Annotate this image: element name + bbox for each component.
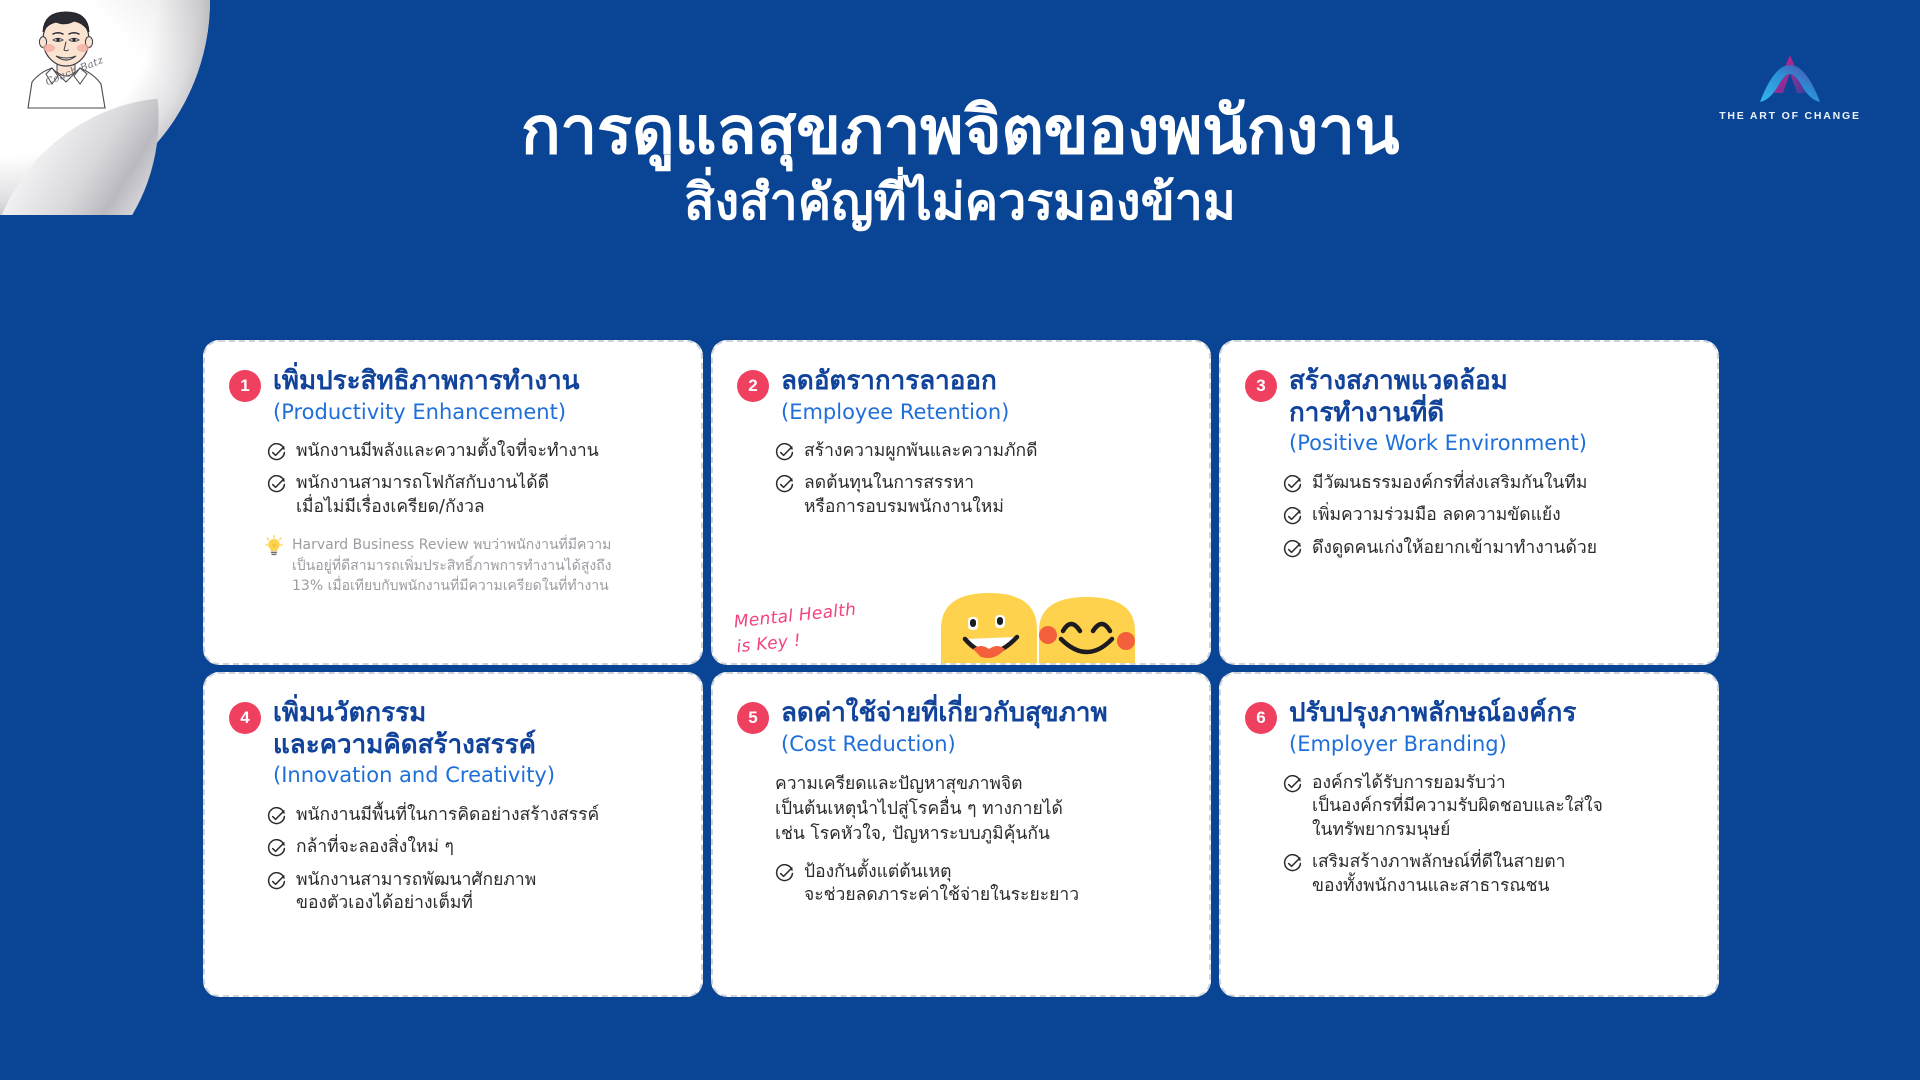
benefit-card-6: 6ปรับปรุงภาพลักษณ์องค์กร(Employer Brandi…: [1219, 672, 1719, 997]
card-title-english: (Employer Branding): [1289, 731, 1691, 758]
card-heading-group: เพิ่มนวัตกรรม และความคิดสร้างสรรค์(Innov…: [273, 698, 675, 790]
bullet-text: ลดต้นทุนในการสรรหา หรือการอบรมพนักงานใหม…: [804, 472, 1004, 519]
bullet-text: กล้าที่จะลองสิ่งใหม่ ๆ: [296, 836, 454, 859]
card-title-thai: เพิ่มนวัตกรรม และความคิดสร้างสรรค์: [273, 698, 675, 761]
benefit-card-2: 2ลดอัตราการลาออก(Employee Retention)สร้า…: [711, 340, 1211, 665]
list-item: เสริมสร้างภาพลักษณ์ที่ดีในสายตา ของทั้งพ…: [1283, 851, 1691, 898]
card-bullet-list: องค์กรได้รับการยอมรับว่า เป็นองค์กรที่มี…: [1283, 772, 1691, 898]
bullet-text: พนักงานมีพื้นที่ในการคิดอย่างสร้างสรรค์: [296, 804, 599, 827]
list-item: พนักงานสามารถโฟกัสกับงานได้ดี เมื่อไม่มี…: [267, 472, 675, 519]
smiley-faces-illustration: [935, 585, 1157, 663]
bullet-text: พนักงานสามารถพัฒนาศักยภาพ ของตัวเองได้อย…: [296, 869, 536, 916]
card-title-english: (Employee Retention): [781, 399, 1183, 426]
list-item: กล้าที่จะลองสิ่งใหม่ ๆ: [267, 836, 675, 859]
check-circle-icon: [267, 839, 286, 858]
bullet-text: มีวัฒนธรรมองค์กรที่ส่งเสริมกันในทีม: [1312, 472, 1587, 495]
card-footnote: Harvard Business Review พบว่าพนักงานที่ม…: [265, 535, 675, 596]
card-bullet-list: พนักงานมีพลังและความตั้งใจที่จะทำงานพนัก…: [267, 440, 675, 519]
card-number-badge: 5: [737, 702, 769, 734]
card-title-thai: เพิ่มประสิทธิภาพการทำงาน: [273, 366, 675, 398]
card-title-english: (Cost Reduction): [781, 731, 1183, 758]
card-number-badge: 6: [1245, 702, 1277, 734]
list-item: ป้องกันตั้งแต่ต้นเหตุ จะช่วยลดภาระค่าใช้…: [775, 861, 1183, 908]
logo-wordmark: THE ART OF CHANGE: [1715, 110, 1865, 122]
brand-logo: THE ART OF CHANGE: [1715, 52, 1865, 122]
bullet-text: เพิ่มความร่วมมือ ลดความขัดแย้ง: [1312, 504, 1561, 527]
check-circle-icon: [775, 443, 794, 462]
card-title-thai: สร้างสภาพแวดล้อม การทำงานที่ดี: [1289, 366, 1691, 429]
check-circle-icon: [1283, 507, 1302, 526]
check-circle-icon: [1283, 475, 1302, 494]
benefit-card-3: 3สร้างสภาพแวดล้อม การทำงานที่ดี(Positive…: [1219, 340, 1719, 665]
card-paragraph: ความเครียดและปัญหาสุขภาพจิต เป็นต้นเหตุน…: [775, 772, 1183, 847]
card-title-english: (Innovation and Creativity): [273, 762, 675, 789]
list-item: ดึงดูดคนเก่งให้อยากเข้ามาทำงานด้วย: [1283, 537, 1691, 560]
card-bullet-list: มีวัฒนธรรมองค์กรที่ส่งเสริมกันในทีมเพิ่ม…: [1283, 472, 1691, 560]
bullet-text: ป้องกันตั้งแต่ต้นเหตุ จะช่วยลดภาระค่าใช้…: [804, 861, 1079, 908]
bullet-text: เสริมสร้างภาพลักษณ์ที่ดีในสายตา ของทั้งพ…: [1312, 851, 1565, 898]
benefit-card-1: 1เพิ่มประสิทธิภาพการทำงาน(Productivity E…: [203, 340, 703, 665]
card-title-thai: ลดอัตราการลาออก: [781, 366, 1183, 398]
list-item: พนักงานมีพื้นที่ในการคิดอย่างสร้างสรรค์: [267, 804, 675, 827]
benefit-cards-grid: 1เพิ่มประสิทธิภาพการทำงาน(Productivity E…: [203, 340, 1719, 997]
card-number-badge: 1: [229, 370, 261, 402]
card-header: 5ลดค่าใช้จ่ายที่เกี่ยวกับสุขภาพ(Cost Red…: [737, 698, 1183, 758]
card-header: 4เพิ่มนวัตกรรม และความคิดสร้างสรรค์(Inno…: [229, 698, 675, 790]
list-item: ลดต้นทุนในการสรรหา หรือการอบรมพนักงานใหม…: [775, 472, 1183, 519]
check-circle-icon: [775, 864, 794, 883]
card-number-badge: 4: [229, 702, 261, 734]
bullet-text: ดึงดูดคนเก่งให้อยากเข้ามาทำงานด้วย: [1312, 537, 1597, 560]
bullet-text: สร้างความผูกพันและความภักดี: [804, 440, 1038, 463]
bullet-text: พนักงานมีพลังและความตั้งใจที่จะทำงาน: [296, 440, 599, 463]
card-title-english: (Productivity Enhancement): [273, 399, 675, 426]
coach-portrait-illustration: [8, 4, 124, 112]
bullet-text: องค์กรได้รับการยอมรับว่า เป็นองค์กรที่มี…: [1312, 772, 1603, 842]
card-heading-group: ปรับปรุงภาพลักษณ์องค์กร(Employer Brandin…: [1289, 698, 1691, 758]
check-circle-icon: [1283, 854, 1302, 873]
bullet-text: พนักงานสามารถโฟกัสกับงานได้ดี เมื่อไม่มี…: [296, 472, 549, 519]
card-heading-group: ลดอัตราการลาออก(Employee Retention): [781, 366, 1183, 426]
card-header: 2ลดอัตราการลาออก(Employee Retention): [737, 366, 1183, 426]
check-circle-icon: [267, 807, 286, 826]
card-header: 6ปรับปรุงภาพลักษณ์องค์กร(Employer Brandi…: [1245, 698, 1691, 758]
art-of-change-mark-icon: [1754, 52, 1826, 106]
list-item: เพิ่มความร่วมมือ ลดความขัดแย้ง: [1283, 504, 1691, 527]
card-title-english: (Positive Work Environment): [1289, 430, 1691, 457]
footnote-text: Harvard Business Review พบว่าพนักงานที่ม…: [292, 535, 612, 596]
list-item: มีวัฒนธรรมองค์กรที่ส่งเสริมกันในทีม: [1283, 472, 1691, 495]
card-bullet-list: สร้างความผูกพันและความภักดีลดต้นทุนในการ…: [775, 440, 1183, 519]
card-heading-group: เพิ่มประสิทธิภาพการทำงาน(Productivity En…: [273, 366, 675, 426]
check-circle-icon: [267, 475, 286, 494]
card-heading-group: สร้างสภาพแวดล้อม การทำงานที่ดี(Positive …: [1289, 366, 1691, 458]
check-circle-icon: [267, 872, 286, 891]
card-bullet-list: ป้องกันตั้งแต่ต้นเหตุ จะช่วยลดภาระค่าใช้…: [775, 861, 1183, 908]
check-circle-icon: [267, 443, 286, 462]
list-item: องค์กรได้รับการยอมรับว่า เป็นองค์กรที่มี…: [1283, 772, 1691, 842]
page-subtitle: สิ่งสำคัญที่ไม่ควรมองข้าม: [0, 175, 1920, 230]
check-circle-icon: [1283, 775, 1302, 794]
card-number-badge: 3: [1245, 370, 1277, 402]
header: การดูแลสุขภาพจิตของพนักงาน สิ่งสำคัญที่ไ…: [0, 96, 1920, 230]
handwritten-note: Mental Health is Key !: [733, 597, 860, 659]
list-item: พนักงานมีพลังและความตั้งใจที่จะทำงาน: [267, 440, 675, 463]
page-title: การดูแลสุขภาพจิตของพนักงาน: [0, 96, 1920, 165]
card-title-thai: ลดค่าใช้จ่ายที่เกี่ยวกับสุขภาพ: [781, 698, 1183, 730]
check-circle-icon: [1283, 540, 1302, 559]
card-sticker: Mental Health is Key !: [713, 585, 1209, 663]
list-item: พนักงานสามารถพัฒนาศักยภาพ ของตัวเองได้อย…: [267, 869, 675, 916]
list-item: สร้างความผูกพันและความภักดี: [775, 440, 1183, 463]
card-number-badge: 2: [737, 370, 769, 402]
card-title-thai: ปรับปรุงภาพลักษณ์องค์กร: [1289, 698, 1691, 730]
card-heading-group: ลดค่าใช้จ่ายที่เกี่ยวกับสุขภาพ(Cost Redu…: [781, 698, 1183, 758]
check-circle-icon: [775, 475, 794, 494]
benefit-card-5: 5ลดค่าใช้จ่ายที่เกี่ยวกับสุขภาพ(Cost Red…: [711, 672, 1211, 997]
card-bullet-list: พนักงานมีพื้นที่ในการคิดอย่างสร้างสรรค์ก…: [267, 804, 675, 916]
card-header: 3สร้างสภาพแวดล้อม การทำงานที่ดี(Positive…: [1245, 366, 1691, 458]
lightbulb-icon: [265, 535, 283, 557]
card-header: 1เพิ่มประสิทธิภาพการทำงาน(Productivity E…: [229, 366, 675, 426]
benefit-card-4: 4เพิ่มนวัตกรรม และความคิดสร้างสรรค์(Inno…: [203, 672, 703, 997]
